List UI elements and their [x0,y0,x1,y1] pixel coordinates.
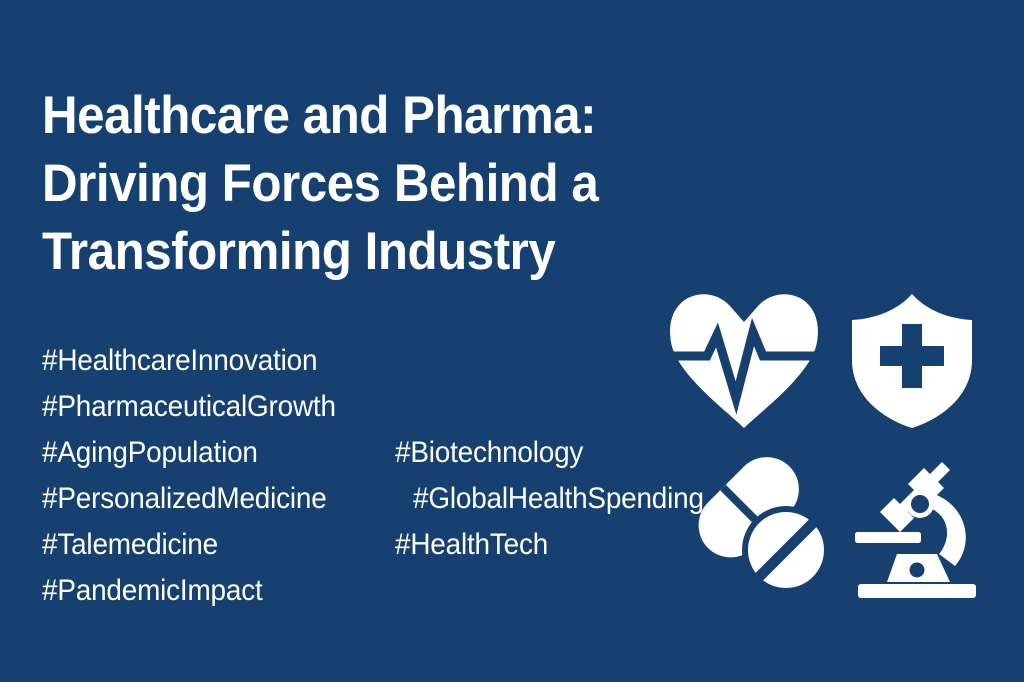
title-line-3: Transforming Industry [42,218,693,286]
hashtag-row: #AgingPopulation #Biotechnology [42,435,802,481]
hashtag-healthcare-innovation[interactable]: #HealthcareInnovation [42,343,317,379]
hashtag-biotechnology[interactable]: #Biotechnology [395,435,583,471]
title-line-2: Driving Forces Behind a [42,150,693,218]
title-line-1: Healthcare and Pharma: [42,82,693,150]
hashtag-row: #Talemedicine #HealthTech [42,527,802,573]
hashtag-pandemic-impact[interactable]: #PandemicImpact [42,573,263,609]
hashtag-list: #HealthcareInnovation #PharmaceuticalGro… [42,343,802,619]
microscope-icon [854,446,980,598]
hashtag-personalized-medicine[interactable]: #PersonalizedMedicine [42,481,327,517]
hashtag-pharmaceutical-growth[interactable]: #PharmaceuticalGrowth [42,389,336,425]
hashtag-global-health-spending[interactable]: #GlobalHealthSpending [413,481,704,517]
shield-cross-icon [852,294,972,428]
page-title: Healthcare and Pharma: Driving Forces Be… [42,82,742,286]
hashtag-row: #PersonalizedMedicine #GlobalHealthSpend… [42,481,802,527]
hashtag-row: #PharmaceuticalGrowth [42,389,802,435]
hashtag-row: #HealthcareInnovation [42,343,802,389]
hashtag-aging-population[interactable]: #AgingPopulation [42,435,258,471]
hashtag-talemedicine[interactable]: #Talemedicine [42,527,218,563]
social-media-card: Healthcare and Pharma: Driving Forces Be… [0,0,1024,682]
hashtag-row: #PandemicImpact [42,573,802,619]
hashtag-health-tech[interactable]: #HealthTech [395,527,548,563]
